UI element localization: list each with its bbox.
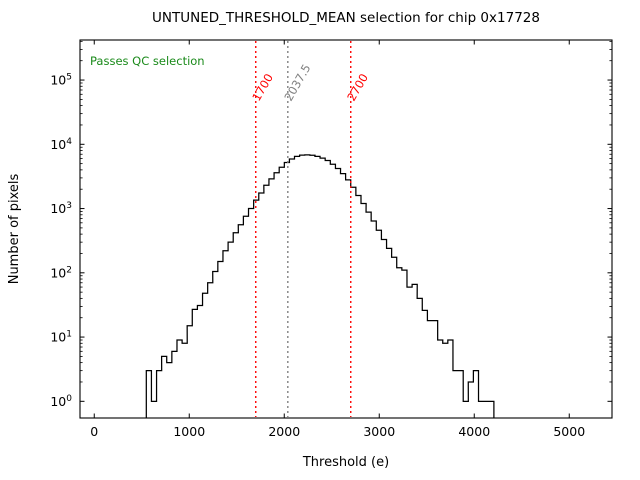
- y-tick-label: 102: [50, 265, 72, 280]
- cut-line-label-upper-cut: 2700: [344, 71, 371, 103]
- page-title: UNTUNED_THRESHOLD_MEAN selection for chi…: [152, 10, 540, 26]
- x-tick-label: 1000: [173, 424, 205, 439]
- x-axis-label: Threshold (e): [302, 455, 389, 470]
- x-tick-label: 3000: [363, 424, 395, 439]
- cut-line-label-mean: 2037.5: [281, 62, 313, 104]
- x-tick-label: 4000: [458, 424, 490, 439]
- x-axis-ticks: 010002000300040005000: [90, 40, 585, 439]
- threshold-cut-lines: 17002037.52700: [249, 41, 371, 417]
- x-tick-label: 5000: [553, 424, 585, 439]
- y-tick-label: 105: [50, 73, 72, 88]
- y-tick-label: 101: [50, 330, 72, 345]
- figure-canvas: UNTUNED_THRESHOLD_MEAN selection for chi…: [0, 0, 640, 480]
- x-tick-label: 0: [90, 424, 98, 439]
- y-axis-ticks: 100101102103104105: [50, 73, 612, 409]
- y-tick-label: 104: [50, 137, 72, 152]
- cut-line-label-lower-cut: 1700: [249, 71, 276, 103]
- y-tick-label: 103: [50, 201, 72, 216]
- qc-status-label: Passes QC selection: [90, 54, 205, 68]
- histogram-plot: UNTUNED_THRESHOLD_MEAN selection for chi…: [0, 0, 640, 480]
- x-tick-label: 2000: [268, 424, 300, 439]
- y-axis-label: Number of pixels: [7, 173, 22, 284]
- histogram-step-line: [146, 155, 494, 418]
- y-tick-label: 100: [50, 394, 72, 409]
